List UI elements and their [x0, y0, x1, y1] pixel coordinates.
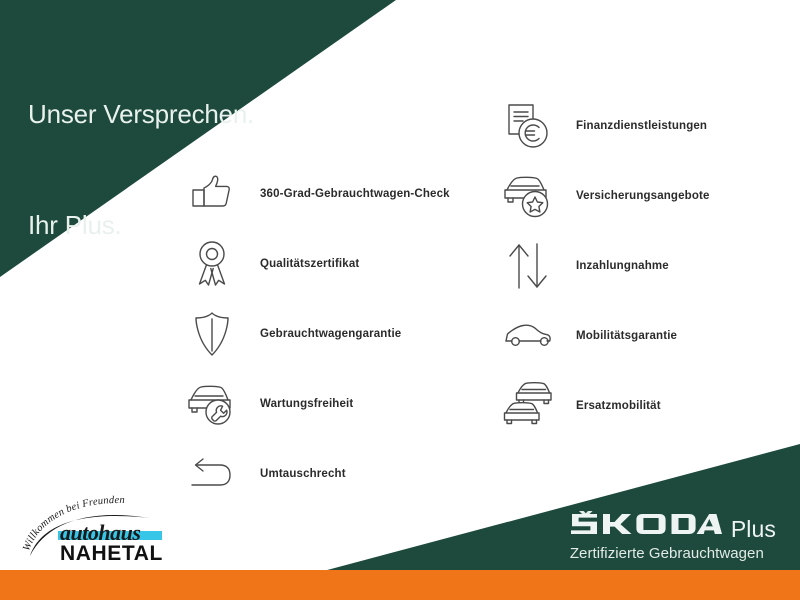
document-euro-icon — [502, 98, 554, 154]
brand-wordmark: Plus — [570, 511, 776, 541]
benefit-label: Versicherungsangebote — [576, 190, 710, 202]
benefit-item: Mobilitätsgarantie — [502, 302, 710, 370]
benefit-item: Finanzdienstleistungen — [502, 92, 710, 160]
benefit-item: Wartungsfreiheit — [186, 370, 450, 438]
benefit-label: Finanzdienstleistungen — [576, 120, 707, 132]
benefit-label: Inzahlungnahme — [576, 260, 669, 272]
benefit-label: Mobilitätsgarantie — [576, 330, 677, 342]
brand-plus-label: Plus — [731, 518, 776, 541]
headline: Unser Versprechen. Ihr Plus. — [28, 22, 254, 317]
promo-slide: Unser Versprechen. Ihr Plus. 360-Grad-Ge… — [0, 0, 800, 600]
benefit-label: 360-Grad-Gebrauchtwagen-Check — [260, 188, 450, 200]
benefit-item: Ersatzmobilität — [502, 372, 710, 440]
headline-line-2: Ihr Plus. — [28, 207, 254, 244]
orange-bar-bottom — [0, 570, 800, 600]
benefit-item: Versicherungsangebote — [502, 162, 710, 230]
benefit-label: Wartungsfreiheit — [260, 398, 353, 410]
up-down-arrows-icon — [502, 238, 554, 294]
benefit-item: Inzahlungnahme — [502, 232, 710, 300]
brand-tagline: Zertifizierte Gebrauchtwagen — [570, 546, 776, 563]
benefits-right-column: Finanzdienstleistungen Versicherungsange… — [502, 92, 710, 442]
benefit-label: Qualitätszertifikat — [260, 258, 359, 270]
two-cars-icon — [502, 378, 554, 434]
dealer-logo-graphic: Willkommen bei Freunden autohaus NAHETAL — [16, 484, 196, 568]
benefit-item: Umtauschrecht — [186, 440, 450, 508]
benefit-label: Gebrauchtwagengarantie — [260, 328, 401, 340]
benefit-label: Umtauschrecht — [260, 468, 346, 480]
skoda-wordmark-icon — [570, 511, 722, 537]
dealer-logo: Willkommen bei Freunden autohaus NAHETAL — [16, 484, 196, 568]
benefit-label: Ersatzmobilität — [576, 400, 661, 412]
brand-lockup: Plus Zertifizierte Gebrauchtwagen — [570, 511, 776, 563]
car-side-icon — [502, 308, 554, 364]
car-star-icon — [502, 168, 554, 224]
car-wrench-icon — [186, 376, 238, 432]
dealer-logo-name-text: NAHETAL — [60, 542, 163, 565]
headline-line-1: Unser Versprechen. — [28, 96, 254, 133]
